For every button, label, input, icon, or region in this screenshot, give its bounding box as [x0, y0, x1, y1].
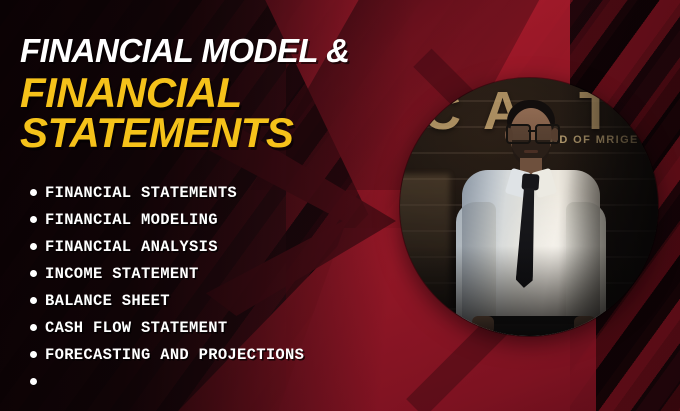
portrait-bottom-shadow: [400, 246, 658, 336]
list-item-label: FINANCIAL STATEMENTS: [45, 184, 237, 202]
bullet-icon: [30, 243, 37, 250]
glasses-left-lens: [506, 124, 531, 144]
bullet-icon: [30, 270, 37, 277]
glasses-right-lens: [535, 124, 560, 144]
bullet-icon: [30, 216, 37, 223]
bullet-icon: [30, 351, 37, 358]
bullet-icon: [30, 378, 37, 385]
list-item: INCOME STATEMENT: [30, 260, 410, 287]
list-item: BALANCE SHEET: [30, 287, 410, 314]
list-item-label: FORECASTING AND PROJECTIONS: [45, 346, 304, 364]
bullet-icon: [30, 297, 37, 304]
list-item: FINANCIAL STATEMENTS: [30, 179, 410, 206]
bullet-icon: [30, 189, 37, 196]
headline-block: FINANCIAL MODEL & FINANCIAL STATEMENTS: [20, 34, 420, 155]
list-item-label: INCOME STATEMENT: [45, 265, 199, 283]
list-item-label: FINANCIAL MODELING: [45, 211, 218, 229]
list-item: CASH FLOW STATEMENT: [30, 314, 410, 341]
list-item: FORECASTING AND PROJECTIONS: [30, 341, 410, 368]
glasses-icon: [505, 124, 557, 140]
list-item-label: BALANCE SHEET: [45, 292, 170, 310]
glasses-bridge: [528, 130, 536, 132]
bullet-icon: [30, 324, 37, 331]
list-item: FINANCIAL MODELING: [30, 206, 410, 233]
list-item: [30, 368, 410, 395]
person-mouth: [524, 150, 538, 153]
services-list: FINANCIAL STATEMENTS FINANCIAL MODELING …: [30, 179, 410, 395]
promo-banner: CA T QUERD OF MRIGE: [0, 0, 680, 411]
headline-line-1: FINANCIAL MODEL &: [20, 34, 420, 68]
headline-line-3: STATEMENTS: [20, 112, 420, 155]
list-item: FINANCIAL ANALYSIS: [30, 233, 410, 260]
list-item-label: FINANCIAL ANALYSIS: [45, 238, 218, 256]
headline-line-2: FINANCIAL: [20, 72, 420, 115]
list-item-label: CASH FLOW STATEMENT: [45, 319, 227, 337]
portrait-photo: CA T QUERD OF MRIGE: [400, 78, 658, 336]
